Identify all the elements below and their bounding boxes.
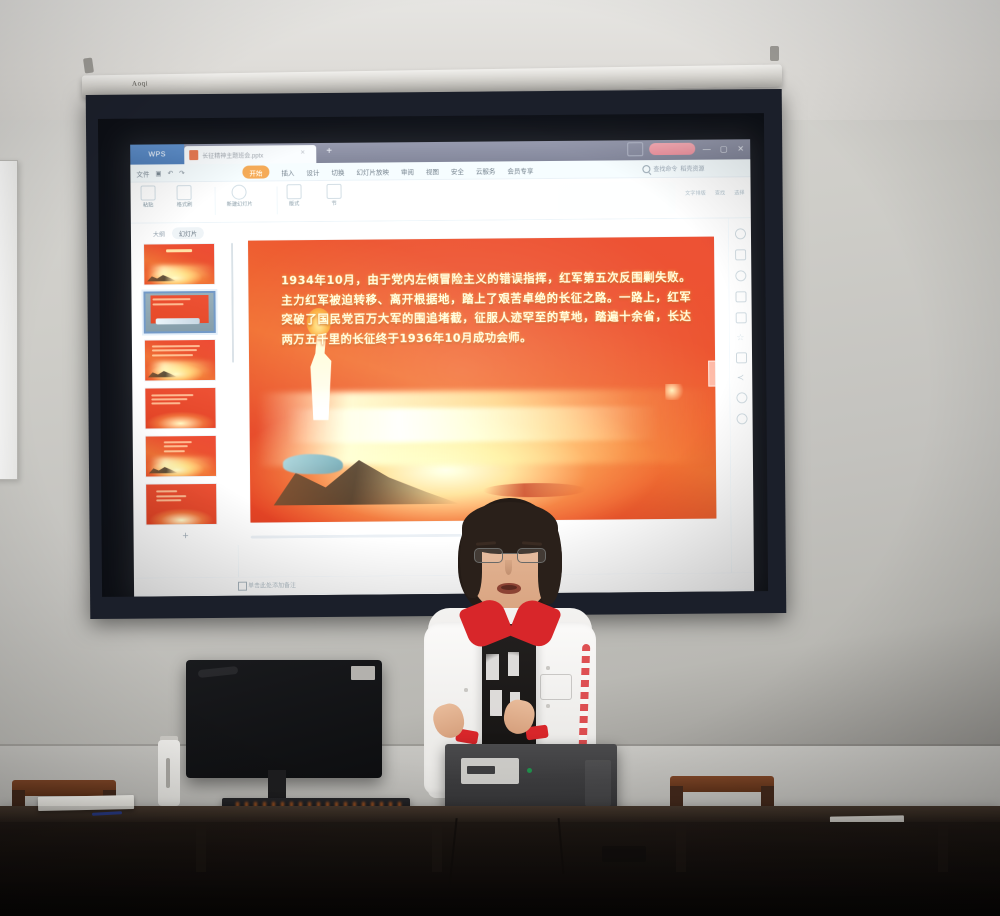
thumb-rays	[149, 361, 215, 374]
thumb-rays	[148, 265, 214, 278]
zoom-out-button[interactable]: —	[684, 594, 691, 597]
zoom-level: 59%	[668, 594, 679, 596]
ribbon-section-label: 版式	[289, 200, 299, 207]
tower-side-vent	[585, 760, 611, 806]
right-toolbar-rail: ☆ ≺	[728, 218, 754, 582]
text-style-icon[interactable]: 文字排版	[685, 190, 706, 197]
select-icon[interactable]: 选择	[734, 189, 744, 196]
current-slide[interactable]: 1934年10月，由于党内左倾冒险主义的错误指挥，红军第五次反围剿失败。主力红军…	[248, 237, 716, 523]
monitor-sheen	[198, 666, 239, 678]
ribbon-format-brush[interactable]: 格式刷	[177, 185, 193, 208]
monitor-label	[351, 666, 375, 680]
tab-start[interactable]: 开始	[242, 165, 269, 178]
slide-river-shape	[282, 454, 343, 474]
presenter-nose	[505, 560, 512, 575]
screen-brand-label: Aoqi	[132, 79, 148, 87]
tab-view[interactable]: 视图	[426, 165, 439, 175]
jacket-button-3	[464, 688, 468, 692]
paper-stack	[38, 795, 134, 811]
thumb-text	[156, 490, 209, 504]
ribbon-new-slide[interactable]: 新建幻灯片	[227, 185, 253, 208]
tab-outline[interactable]: 大纲	[153, 229, 165, 238]
notes-placeholder: 单击此处添加备注	[248, 580, 296, 589]
note-icon	[238, 582, 247, 591]
find-replace-icon[interactable]: 查找	[715, 189, 725, 196]
format-brush-icon	[177, 185, 192, 200]
power-strip	[602, 846, 646, 862]
share-icon[interactable]: ≺	[737, 373, 746, 382]
search-placeholder: 查找命令	[653, 164, 677, 173]
tab-security[interactable]: 安全	[451, 165, 464, 175]
thumb-rays	[150, 457, 216, 470]
ribbon-divider-2	[277, 186, 278, 214]
menu-icon[interactable]: 文件	[136, 168, 149, 178]
slide-body-text[interactable]: 1934年10月，由于党内左倾冒险主义的错误指挥，红军第五次反围剿失败。主力红军…	[281, 268, 692, 350]
slide-edge-handle[interactable]	[708, 361, 716, 387]
table-icon[interactable]	[735, 352, 746, 363]
settings-icon[interactable]	[734, 228, 745, 239]
search-box[interactable]: 查找命令 稻壳资源	[642, 164, 704, 174]
slide-thumbnail-3[interactable]: 3	[144, 339, 216, 382]
zoom-slider-knob[interactable]	[723, 594, 730, 597]
desk-leg-4	[938, 822, 948, 872]
glasses-lens-right	[517, 548, 546, 563]
screen-bracket-right	[770, 46, 779, 61]
slide-thumbnail-4[interactable]: 4	[144, 387, 216, 430]
tab-insert[interactable]: 插入	[281, 167, 294, 177]
thumb-text	[164, 441, 209, 455]
presenter-jacket-pocket	[540, 674, 572, 700]
shapes-icon[interactable]	[735, 312, 746, 323]
image-icon[interactable]	[735, 291, 746, 302]
thumbnail-pane-tabs: 大纲 幻灯片	[131, 223, 235, 243]
copy-icon[interactable]	[735, 249, 746, 260]
zoom-in-button[interactable]: +	[735, 593, 739, 596]
slide-thumbnail-6[interactable]: 6	[145, 483, 217, 526]
ribbon-new-slide-label: 新建幻灯片	[227, 201, 253, 208]
resource-link[interactable]: 稻壳资源	[680, 164, 704, 173]
help-icon[interactable]	[736, 413, 747, 424]
ribbon-toolbar: 粘贴 格式刷 新建幻灯片 版式	[130, 177, 750, 223]
minimize-button[interactable]: —	[701, 144, 712, 153]
jacket-button-2	[546, 704, 550, 708]
document-tab-title: 长征精神主题班会.pptx	[202, 150, 263, 160]
add-slide-button[interactable]: +	[134, 531, 238, 543]
save-icon[interactable]: ▣	[155, 169, 161, 177]
quick-access-toolbar: 文件 ▣ ↶ ↷	[136, 168, 184, 178]
tab-review[interactable]: 审阅	[401, 166, 414, 176]
close-tab-icon[interactable]: ✕	[300, 149, 305, 156]
desk-leg-1	[196, 822, 206, 872]
ribbon-section[interactable]: 版式	[287, 184, 302, 207]
glasses-lens-left	[474, 548, 503, 563]
classroom-scene: Aoqi WPS 长征精神主题班会.pptx ✕ + —	[0, 0, 1000, 916]
tower-power-led	[527, 768, 532, 773]
history-icon[interactable]	[736, 392, 747, 403]
refresh-icon[interactable]	[735, 270, 746, 281]
thumb-text	[152, 298, 206, 307]
ribbon-tabs: 开始 插入 设计 切换 幻灯片放映 审阅 视图 安全 云服务 会员专享	[242, 161, 533, 181]
thumbnail-list: 1 2	[131, 242, 237, 526]
layout-icon	[327, 184, 342, 199]
slide-thumbnail-5[interactable]: 5	[145, 435, 217, 478]
slide-canvas[interactable]: 1934年10月，由于党内左倾冒险主义的错误指挥，红军第五次反围剿失败。主力红军…	[235, 218, 732, 544]
play-icon[interactable]	[652, 593, 663, 597]
redo-icon[interactable]: ↷	[179, 169, 185, 177]
undo-icon[interactable]: ↶	[168, 169, 174, 177]
screen-bracket-left	[83, 57, 94, 73]
thumb-photo-strip	[155, 318, 200, 324]
chair-backrest	[12, 780, 116, 796]
slide-sparkle	[665, 383, 687, 399]
ribbon-faded-controls	[346, 182, 676, 217]
bottle-strap	[166, 758, 170, 788]
fit-to-window-icon[interactable]: ⛶	[744, 593, 749, 596]
tab-design[interactable]: 设计	[306, 167, 319, 177]
chair-backrest	[670, 776, 774, 792]
jacket-button-1	[546, 666, 550, 670]
tab-slides[interactable]: 幻灯片	[172, 227, 204, 239]
tab-transition[interactable]: 切换	[331, 166, 344, 176]
tower-drive-slot	[467, 766, 495, 774]
ribbon-format-brush-label: 格式刷	[177, 201, 193, 208]
ribbon-divider-1	[215, 187, 216, 215]
new-slide-icon	[232, 185, 247, 200]
thumb-text	[151, 394, 209, 408]
maximize-button[interactable]: ▢	[718, 144, 729, 153]
tab-slideshow[interactable]: 幻灯片放映	[356, 166, 389, 176]
slide-thumbnail-pane[interactable]: 大纲 幻灯片 1 2	[131, 223, 239, 578]
wps-logo: WPS	[130, 144, 184, 164]
ribbon-paste[interactable]: 粘贴	[141, 185, 156, 208]
titlebar-controls: — ▢ ✕	[627, 141, 746, 156]
powerpoint-file-icon	[189, 150, 198, 160]
section-icon	[287, 184, 302, 199]
new-tab-icon[interactable]: +	[326, 147, 332, 157]
desk-front-panel	[0, 822, 1000, 916]
presenter-mouth-inner	[501, 585, 517, 590]
app-switch-icon[interactable]	[627, 142, 643, 156]
ribbon-layout[interactable]: 节	[327, 184, 342, 207]
slide-sunrays-highlight	[287, 406, 660, 443]
ribbon-paste-label: 粘贴	[143, 201, 153, 208]
thumb-text	[152, 345, 208, 359]
tab-cloud[interactable]: 云服务	[476, 165, 496, 175]
slide-thumbnail-1[interactable]: 1	[143, 243, 215, 286]
slide-thumbnail-2[interactable]: 2	[143, 291, 215, 334]
monitor	[186, 660, 382, 778]
paste-icon	[141, 185, 156, 200]
close-button[interactable]: ✕	[735, 144, 746, 153]
ribbon-layout-label: 节	[332, 200, 337, 207]
search-icon	[642, 165, 650, 173]
star-icon[interactable]: ☆	[736, 333, 745, 342]
status-right: 59% — + ⛶	[652, 592, 749, 596]
thumb-text	[151, 249, 207, 255]
account-button[interactable]	[649, 143, 695, 155]
tab-member[interactable]: 会员专享	[507, 165, 533, 175]
document-tab[interactable]: 长征精神主题班会.pptx	[184, 145, 316, 164]
whiteboard	[0, 160, 18, 480]
ribbon-right-tools: 文字排版 查找 选择	[685, 189, 745, 197]
desk-leg-3	[676, 822, 686, 872]
desk-leg-2	[432, 822, 442, 872]
